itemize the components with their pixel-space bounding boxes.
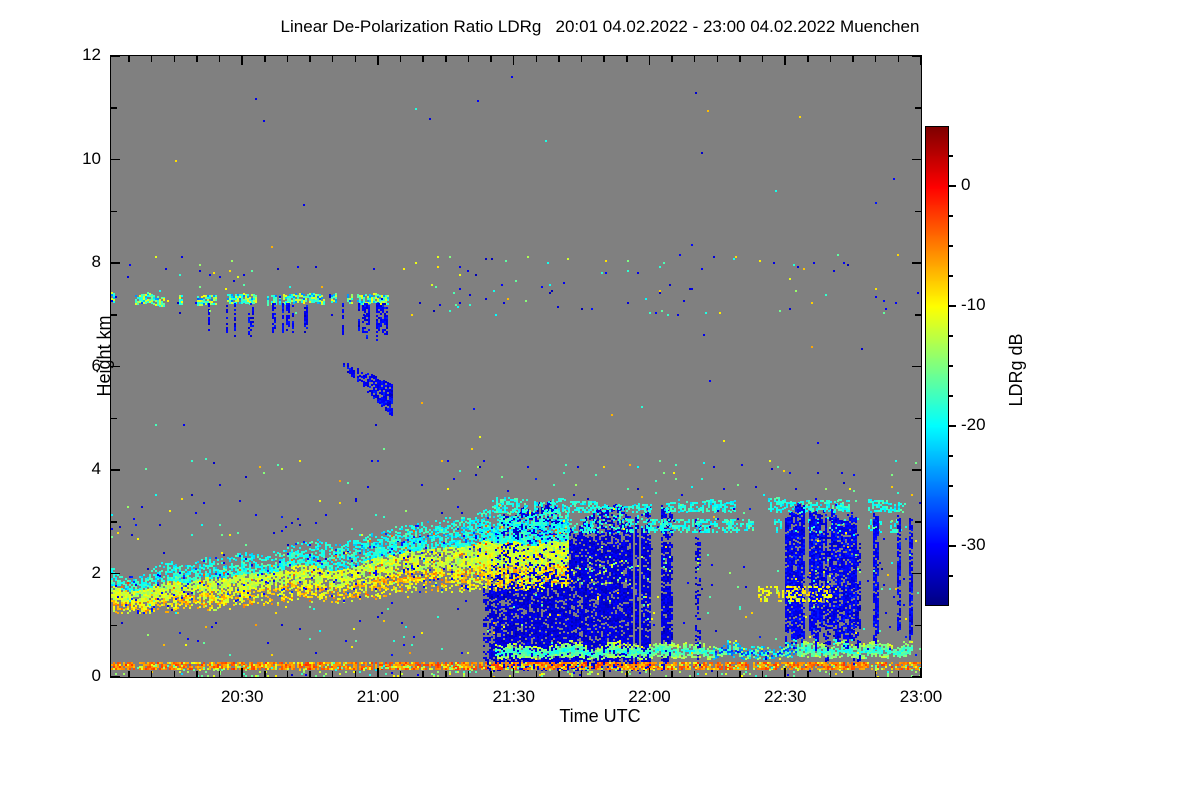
x-tick-minor — [762, 56, 764, 62]
x-tick-label: 20:30 — [202, 687, 282, 707]
x-tick-minor — [445, 56, 447, 62]
x-tick-minor — [852, 56, 854, 62]
x-tick-minor — [355, 56, 357, 62]
colorbar-tick-minor — [949, 365, 953, 367]
x-tick-minor — [626, 671, 628, 677]
colorbar-tick-minor — [949, 575, 953, 577]
y-tick-minor — [915, 521, 921, 523]
colorbar-tick-minor — [949, 245, 953, 247]
x-tick-minor — [490, 56, 492, 62]
colorbar-tick-minor — [949, 155, 953, 157]
x-axis-title: Time UTC — [0, 706, 1200, 727]
colorbar-tick-minor — [949, 335, 953, 337]
x-tick-minor — [174, 56, 176, 62]
plot-area: 024681012 20:3021:0021:3022:0022:3023:00… — [110, 55, 922, 678]
figure-root: Linear De-Polarization Ratio LDRg 20:01 … — [0, 0, 1200, 800]
x-tick-label: 22:00 — [609, 687, 689, 707]
colorbar-tick — [949, 545, 956, 547]
y-tick-minor — [111, 107, 117, 109]
x-tick-minor — [830, 56, 832, 62]
colorbar-gradient — [925, 126, 949, 606]
x-tick-major — [649, 668, 651, 677]
colorbar: 0-10-20-30 — [925, 126, 949, 606]
x-tick-minor — [151, 671, 153, 677]
x-tick-minor — [445, 671, 447, 677]
x-tick-minor — [400, 671, 402, 677]
x-tick-minor — [151, 56, 153, 62]
colorbar-tick — [949, 305, 956, 307]
colorbar-tick — [949, 425, 956, 427]
x-tick-major — [513, 668, 515, 677]
x-tick-minor — [739, 56, 741, 62]
x-tick-minor — [558, 671, 560, 677]
x-tick-minor — [852, 671, 854, 677]
x-tick-major — [241, 668, 243, 677]
x-tick-minor — [309, 56, 311, 62]
x-tick-minor — [196, 671, 198, 677]
y-tick-label: 10 — [61, 149, 101, 169]
y-tick-minor — [915, 107, 921, 109]
x-tick-minor — [264, 671, 266, 677]
x-tick-major — [377, 56, 379, 65]
x-tick-minor — [626, 56, 628, 62]
x-tick-minor — [219, 56, 221, 62]
x-tick-major — [920, 56, 922, 65]
colorbar-tick-minor — [949, 485, 953, 487]
colorbar-tick-label: -20 — [961, 415, 986, 435]
x-tick-minor — [717, 56, 719, 62]
x-tick-minor — [671, 56, 673, 62]
x-tick-major — [649, 56, 651, 65]
y-tick-label: 4 — [61, 459, 101, 479]
y-tick-label: 8 — [61, 252, 101, 272]
x-tick-minor — [807, 56, 809, 62]
x-tick-minor — [762, 671, 764, 677]
y-tick-major — [111, 676, 120, 678]
y-tick-major — [111, 159, 120, 161]
x-tick-minor — [603, 56, 605, 62]
x-tick-minor — [332, 56, 334, 62]
x-tick-minor — [400, 56, 402, 62]
x-tick-minor — [875, 671, 877, 677]
x-tick-minor — [581, 56, 583, 62]
y-tick-major — [912, 159, 921, 161]
x-tick-minor — [219, 671, 221, 677]
x-tick-minor — [536, 56, 538, 62]
y-tick-major — [912, 262, 921, 264]
y-tick-minor — [111, 211, 117, 213]
y-tick-minor — [915, 314, 921, 316]
y-tick-major — [912, 573, 921, 575]
y-tick-major — [912, 366, 921, 368]
x-tick-minor — [898, 671, 900, 677]
x-tick-minor — [128, 56, 130, 62]
x-tick-minor — [694, 56, 696, 62]
x-tick-minor — [581, 671, 583, 677]
x-tick-minor — [287, 671, 289, 677]
x-tick-minor — [422, 671, 424, 677]
y-tick-major — [912, 469, 921, 471]
chart-title: Linear De-Polarization Ratio LDRg 20:01 … — [0, 17, 1200, 37]
x-tick-minor — [287, 56, 289, 62]
heatmap-canvas — [111, 56, 921, 677]
x-tick-minor — [807, 671, 809, 677]
x-tick-label: 21:00 — [338, 687, 418, 707]
x-tick-minor — [468, 671, 470, 677]
x-tick-minor — [468, 56, 470, 62]
y-tick-major — [111, 469, 120, 471]
y-tick-label: 12 — [61, 45, 101, 65]
x-tick-minor — [671, 671, 673, 677]
x-tick-major — [241, 56, 243, 65]
x-tick-minor — [717, 671, 719, 677]
colorbar-tick-minor — [949, 215, 953, 217]
colorbar-title: LDRg dB — [1006, 333, 1027, 406]
x-tick-minor — [536, 671, 538, 677]
y-tick-major — [111, 55, 120, 57]
x-tick-minor — [332, 671, 334, 677]
x-tick-minor — [196, 56, 198, 62]
y-tick-major — [111, 262, 120, 264]
y-tick-minor — [111, 418, 117, 420]
colorbar-tick-label: 0 — [961, 175, 970, 195]
y-tick-minor — [915, 625, 921, 627]
x-tick-major — [377, 668, 379, 677]
colorbar-tick — [949, 185, 956, 187]
colorbar-tick-label: -10 — [961, 295, 986, 315]
x-tick-minor — [490, 671, 492, 677]
x-tick-minor — [898, 56, 900, 62]
x-tick-minor — [875, 56, 877, 62]
colorbar-tick-minor — [949, 515, 953, 517]
x-tick-major — [784, 56, 786, 65]
x-tick-minor — [174, 671, 176, 677]
x-tick-minor — [694, 671, 696, 677]
x-tick-minor — [603, 671, 605, 677]
x-tick-minor — [830, 671, 832, 677]
x-tick-minor — [309, 671, 311, 677]
x-tick-minor — [739, 671, 741, 677]
y-axis-title: Height km — [94, 315, 115, 396]
y-tick-minor — [915, 418, 921, 420]
colorbar-tick-minor — [949, 395, 953, 397]
y-tick-major — [111, 573, 120, 575]
x-tick-minor — [558, 56, 560, 62]
x-tick-major — [784, 668, 786, 677]
x-tick-minor — [264, 56, 266, 62]
x-tick-minor — [128, 671, 130, 677]
y-tick-minor — [915, 211, 921, 213]
x-tick-major — [920, 668, 922, 677]
y-tick-minor — [111, 625, 117, 627]
x-tick-major — [513, 56, 515, 65]
y-tick-label: 0 — [61, 666, 101, 686]
x-tick-label: 23:00 — [881, 687, 961, 707]
colorbar-tick-minor — [949, 455, 953, 457]
y-tick-label: 2 — [61, 563, 101, 583]
y-tick-minor — [111, 521, 117, 523]
x-tick-minor — [355, 671, 357, 677]
x-tick-minor — [422, 56, 424, 62]
x-tick-label: 21:30 — [474, 687, 554, 707]
x-tick-label: 22:30 — [745, 687, 825, 707]
colorbar-tick-label: -30 — [961, 535, 986, 555]
colorbar-tick-minor — [949, 275, 953, 277]
